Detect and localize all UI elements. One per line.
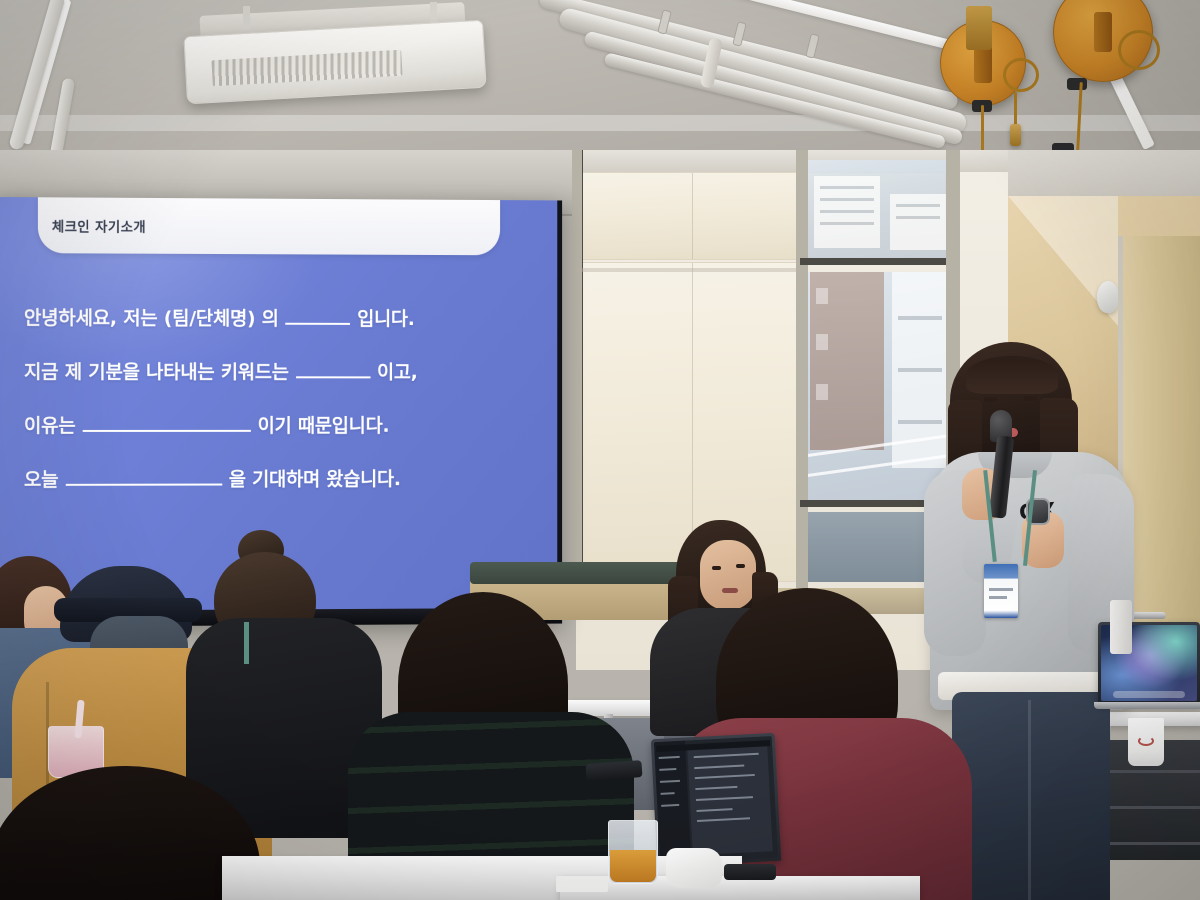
attendee-eye xyxy=(712,566,721,570)
fill-in-blank xyxy=(65,472,221,486)
attendee-eye xyxy=(736,564,745,568)
presenter-eye xyxy=(1024,396,1037,401)
app-sidebar[interactable] xyxy=(654,741,691,864)
drink-liquid xyxy=(610,850,656,882)
ac-hanger xyxy=(243,6,250,30)
laptop-document[interactable] xyxy=(651,733,782,867)
laptop-screen xyxy=(654,736,778,864)
slide-line: 이유는 이기 때문입니다. xyxy=(24,411,536,438)
slide-line-before: 이유는 xyxy=(24,411,76,438)
fill-in-blank xyxy=(296,364,370,378)
presenter-eye xyxy=(984,397,997,402)
reel-cap xyxy=(1067,78,1087,90)
slide-body: 안녕하세요, 저는 (팀/단체명) 의 입니다. 지금 제 기분을 나타내는 키… xyxy=(24,303,536,519)
slide-line-after: 입니다. xyxy=(357,304,414,331)
window-pane xyxy=(806,272,952,502)
cup-print xyxy=(1138,736,1154,746)
laptop-base xyxy=(1094,702,1200,709)
document-app xyxy=(654,736,778,864)
document-body xyxy=(687,744,773,855)
slide-line-before: 지금 제 기분을 나타내는 키워드는 xyxy=(24,357,289,384)
cable-loop xyxy=(1003,58,1039,92)
window-frame xyxy=(576,268,798,272)
slide-line: 지금 제 기분을 나타내는 키워드는 이고, xyxy=(24,357,536,384)
fill-in-blank xyxy=(286,311,351,325)
paper-card xyxy=(556,876,608,892)
photo-scene: 체크인 자기소개 안녕하세요, 저는 (팀/단체명) 의 입니다. 지금 제 기… xyxy=(0,0,1200,900)
iced-drink-glass xyxy=(608,820,658,884)
tissue xyxy=(666,848,722,888)
badge-line xyxy=(989,588,1013,591)
lanyard xyxy=(244,622,249,664)
presenter-bangs xyxy=(966,356,1058,394)
badge-line xyxy=(989,596,1007,599)
jeans-seam xyxy=(1028,700,1031,900)
slide-title: 체크인 자기소개 xyxy=(52,215,146,235)
slide-line-after: 이기 때문입니다. xyxy=(258,411,390,438)
window-roller-blind[interactable] xyxy=(582,172,800,260)
slide-line-before: 오늘 xyxy=(24,465,58,492)
slide-line: 오늘 을 기대하며 왔습니다. xyxy=(24,464,536,492)
slide-line-before: 안녕하세요, 저는 (팀/단체명) 의 xyxy=(24,303,279,331)
fill-in-blank xyxy=(83,418,251,432)
os-dock xyxy=(1113,691,1186,698)
slide-line-after: 을 기대하며 왔습니다. xyxy=(229,464,401,491)
presenter-jeans xyxy=(952,692,1110,900)
attendee-mouth xyxy=(722,588,738,593)
window-frame xyxy=(796,150,808,610)
window-frame xyxy=(572,150,582,620)
slide-line: 안녕하세요, 저는 (팀/단체명) 의 입니다. xyxy=(24,303,536,331)
window-roller-blind[interactable] xyxy=(806,172,946,258)
cable-tail xyxy=(1014,92,1017,126)
upper-wall xyxy=(1008,150,1200,198)
attendee-face xyxy=(700,540,756,610)
wall-sensor-icon xyxy=(1097,281,1119,313)
slide-line-after: 이고, xyxy=(377,358,418,385)
cable-loop xyxy=(1118,30,1160,70)
lanyard-badge xyxy=(984,564,1018,618)
cable-end-plug xyxy=(1010,124,1021,146)
tumbler xyxy=(1110,600,1132,654)
window-mullion xyxy=(800,258,952,265)
smartphone[interactable] xyxy=(724,864,776,880)
reel-bracket xyxy=(966,6,992,50)
